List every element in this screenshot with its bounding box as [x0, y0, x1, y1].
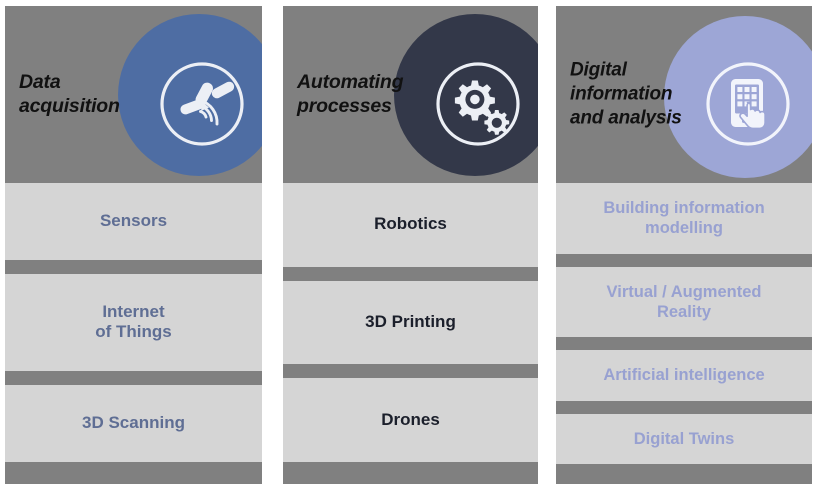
column-title: Data acquisition: [19, 70, 120, 120]
column-header-data-acquisition: Data acquisition: [5, 6, 262, 183]
list-item[interactable]: Virtual / Augmented Reality: [556, 267, 812, 338]
list-item[interactable]: 3D Printing: [283, 281, 538, 365]
list-item[interactable]: Digital Twins: [556, 414, 812, 464]
gears-icon: [432, 58, 524, 150]
row-divider: [5, 371, 262, 385]
list-item[interactable]: Sensors: [5, 183, 262, 260]
column-digital-information-and-analysis: Digital information and analysis: [556, 6, 812, 484]
column-title: Digital information and analysis: [570, 58, 682, 131]
list-item[interactable]: Drones: [283, 378, 538, 462]
list-item[interactable]: Building information modelling: [556, 183, 812, 254]
column-footer-band: [5, 462, 262, 484]
row-divider: [556, 337, 812, 350]
column-header-digital-information-and-analysis: Digital information and analysis: [556, 6, 812, 183]
item-list-digital-information-and-analysis: Building information modelling Virtual /…: [556, 183, 812, 484]
satellite-signal-icon: [156, 58, 248, 150]
list-item[interactable]: Robotics: [283, 183, 538, 267]
list-item[interactable]: 3D Scanning: [5, 385, 262, 462]
item-list-data-acquisition: Sensors Internet of Things 3D Scanning: [5, 183, 262, 484]
column-data-acquisition: Data acquisition: [5, 6, 262, 484]
column-automating-processes: Automating processes Robotics 3D Printin…: [283, 6, 538, 484]
row-divider: [283, 364, 538, 378]
column-title: Automating processes: [297, 70, 403, 120]
column-footer-band: [556, 464, 812, 484]
column-footer-band: [283, 462, 538, 484]
list-item[interactable]: Internet of Things: [5, 274, 262, 371]
technology-categories-board: Data acquisition: [0, 0, 818, 484]
list-item[interactable]: Artificial intelligence: [556, 350, 812, 400]
row-divider: [556, 401, 812, 414]
column-header-automating-processes: Automating processes: [283, 6, 538, 183]
row-divider: [556, 254, 812, 267]
tablet-touch-icon: [702, 58, 794, 150]
row-divider: [283, 267, 538, 281]
row-divider: [5, 260, 262, 274]
item-list-automating-processes: Robotics 3D Printing Drones: [283, 183, 538, 484]
